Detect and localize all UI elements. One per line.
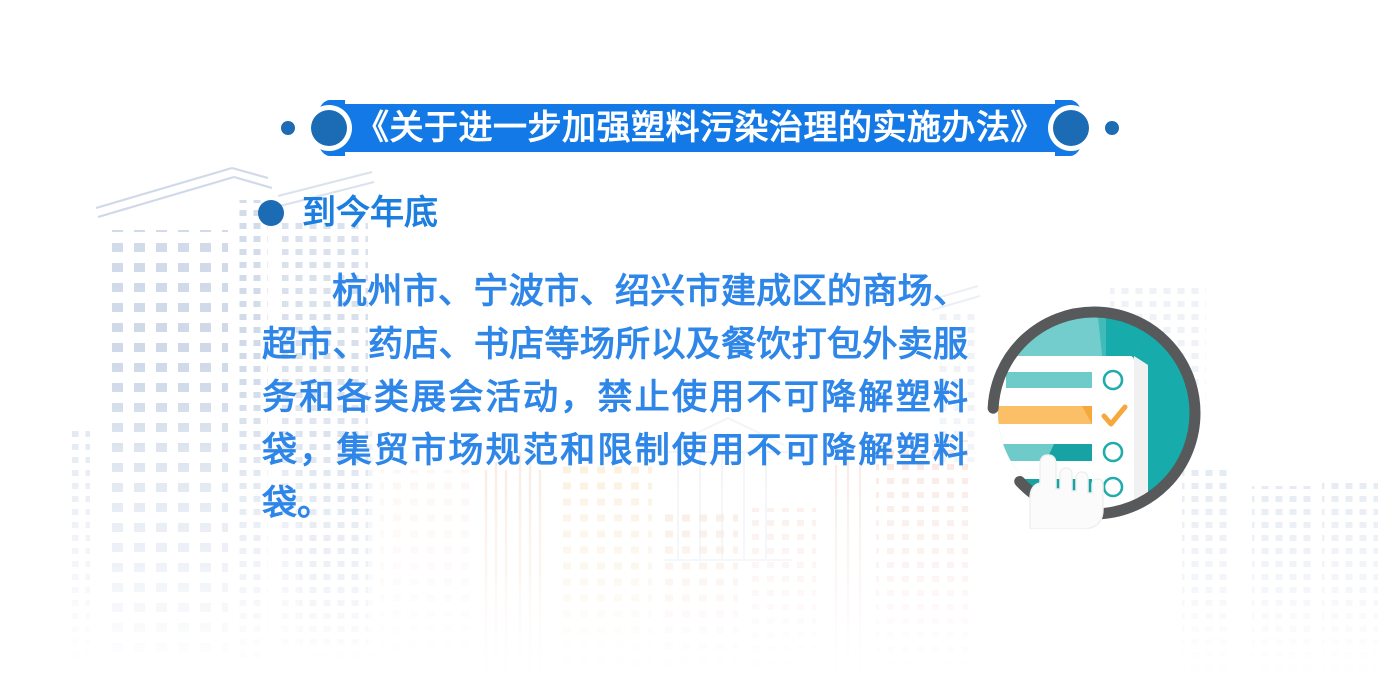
- title-banner-row: 《关于进一步加强塑料污染治理的实施办法》: [0, 98, 1400, 158]
- page-title: 《关于进一步加强塑料污染治理的实施办法》: [355, 111, 1045, 145]
- building-right-twin: [1248, 452, 1378, 700]
- building-far-left-strip: [72, 430, 90, 660]
- title-banner: 《关于进一步加强塑料污染治理的实施办法》: [329, 104, 1071, 152]
- subhead-label: 到今年底: [302, 196, 438, 230]
- decorative-dot-right-large: [1053, 110, 1089, 146]
- body-paragraph: 杭州市、宁波市、绍兴市建成区的商场、超市、药店、书店等场所以及餐饮打包外卖服务和…: [262, 265, 968, 530]
- decorative-dot-right-small: [1105, 121, 1119, 135]
- subhead-row: 到今年底: [258, 196, 438, 230]
- decorative-dot-left-small: [281, 121, 295, 135]
- checklist-circle-icon: [978, 303, 1214, 529]
- decorative-dot-left-large: [311, 110, 347, 146]
- bullet-dot-icon: [258, 200, 284, 226]
- poster-root: 《关于进一步加强塑料污染治理的实施办法》 到今年底 杭州市、宁波市、绍兴市建成区…: [0, 0, 1400, 700]
- building-left-tower: [96, 168, 272, 660]
